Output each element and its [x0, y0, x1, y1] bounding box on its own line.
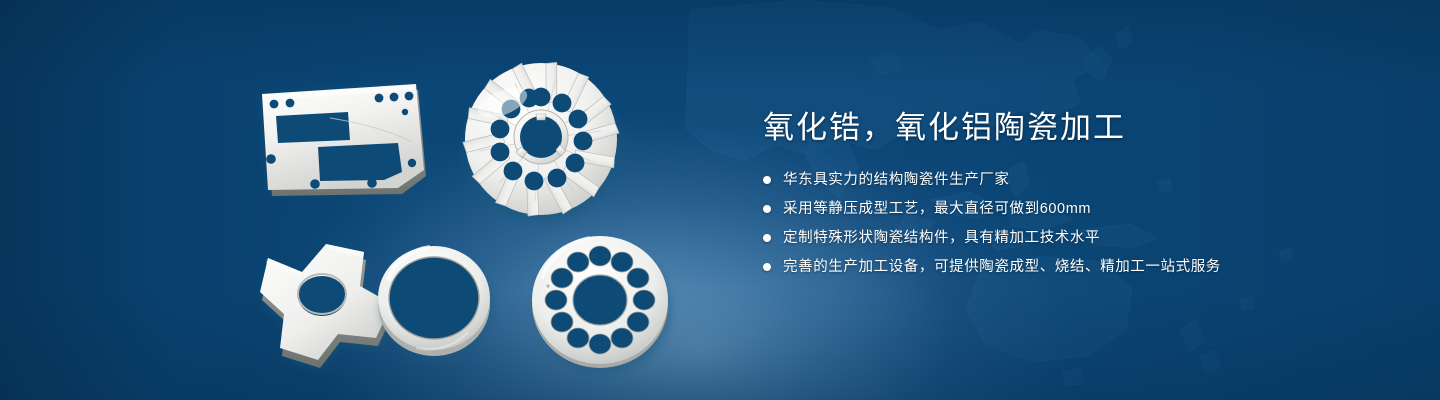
ceramic-cross-part — [260, 244, 395, 370]
banner-content: 氧化锆，氧化铝陶瓷加工 华东具实力的结构陶瓷件生产厂家 采用等静压成型工艺，最大… — [763, 108, 1403, 277]
bullet-dot-icon — [763, 176, 771, 184]
page-title: 氧化锆，氧化铝陶瓷加工 — [763, 108, 1403, 148]
bullet-dot-icon — [763, 234, 771, 242]
list-item: 完善的生产加工设备，可提供陶瓷成型、烧结、精加工一站式服务 — [763, 257, 1403, 277]
ceramic-ring — [378, 246, 493, 360]
list-item: 华东具实力的结构陶瓷件生产厂家 — [763, 170, 1403, 190]
ceramic-hole-disc — [532, 236, 671, 373]
list-item: 采用等静压成型工艺，最大直径可做到600mm — [763, 199, 1403, 219]
feature-list: 华东具实力的结构陶瓷件生产厂家 采用等静压成型工艺，最大直径可做到600mm 定… — [763, 170, 1403, 277]
promo-banner: 氧化锆，氧化铝陶瓷加工 华东具实力的结构陶瓷件生产厂家 采用等静压成型工艺，最大… — [0, 0, 1440, 400]
list-item: 定制特殊形状陶瓷结构件，具有精加工技术水平 — [763, 228, 1403, 248]
list-item-label: 完善的生产加工设备，可提供陶瓷成型、烧结、精加工一站式服务 — [783, 257, 1221, 277]
bullet-dot-icon — [763, 205, 771, 213]
ceramic-impeller — [462, 60, 621, 223]
list-item-label: 定制特殊形状陶瓷结构件，具有精加工技术水平 — [783, 228, 1100, 248]
bullet-dot-icon — [763, 263, 771, 271]
list-item-label: 采用等静压成型工艺，最大直径可做到600mm — [783, 199, 1091, 219]
list-item-label: 华东具实力的结构陶瓷件生产厂家 — [783, 170, 1010, 190]
product-photo-group — [0, 0, 740, 400]
ceramic-plate — [262, 84, 426, 196]
